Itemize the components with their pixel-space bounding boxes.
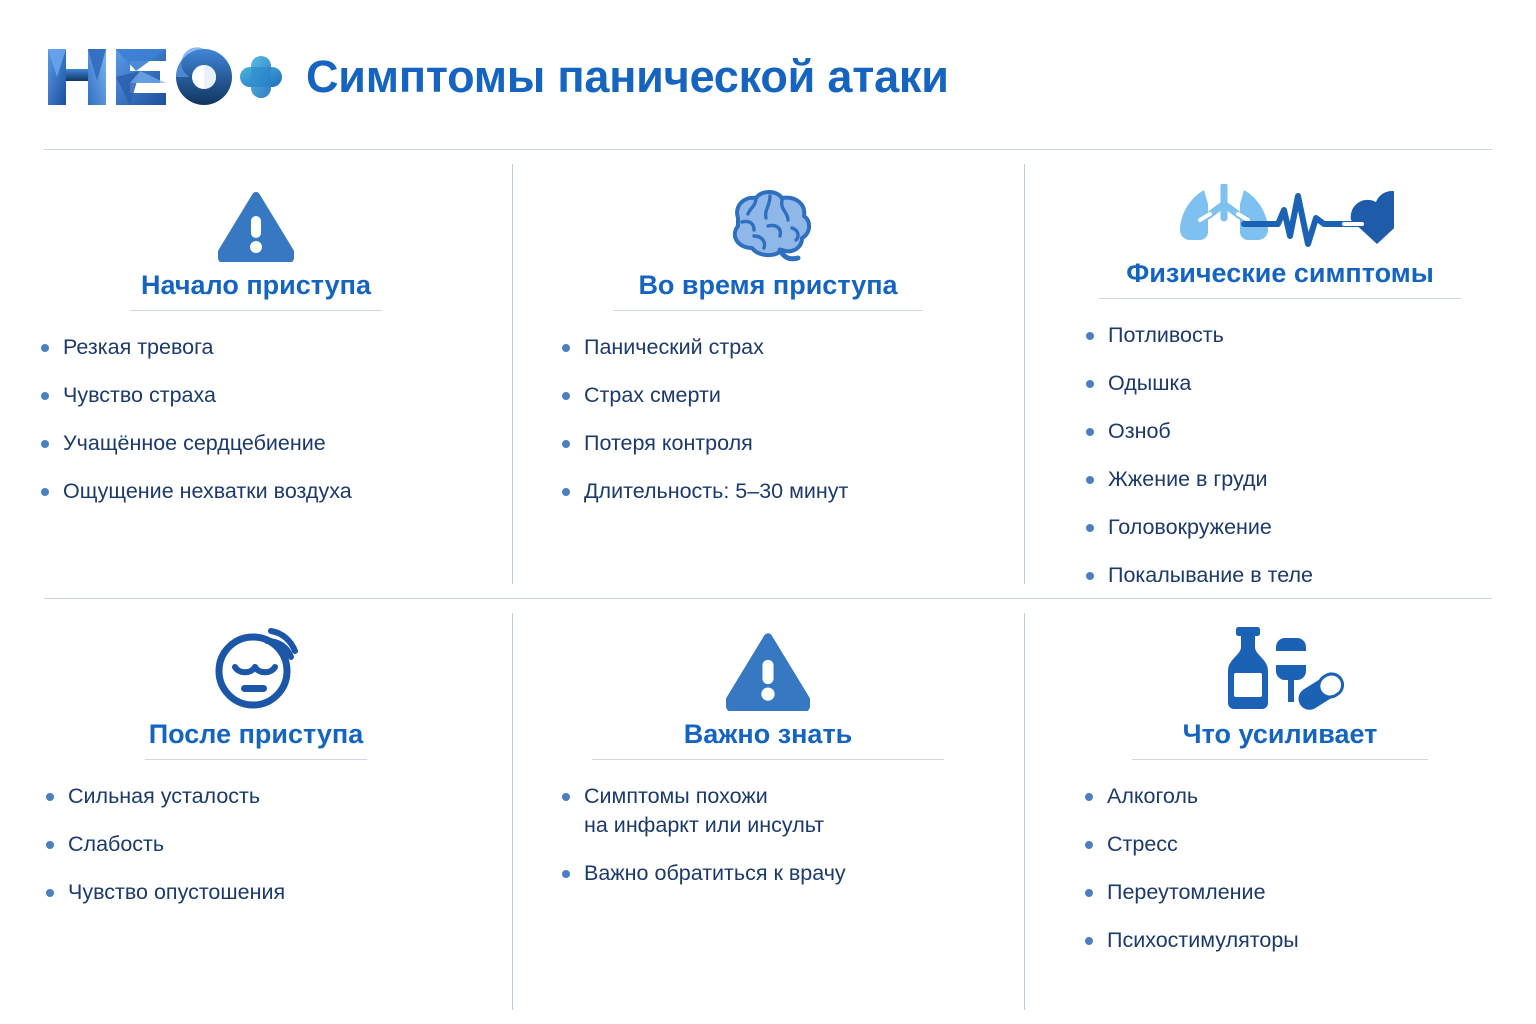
symptom-list: Резкая тревога Чувство страха Учащённое …	[3, 333, 509, 525]
list-item: Важно обратиться к врачу	[558, 859, 1030, 888]
list-item: Алкоголь	[1081, 782, 1536, 811]
list-item: Резкая тревога	[37, 333, 509, 362]
title-underline	[145, 759, 367, 760]
symptom-list: Симптомы похожи на инфаркт или инсульт В…	[506, 782, 1030, 907]
cards-grid: Начало приступа Резкая тревога Чувство с…	[0, 150, 1536, 1024]
list-item: Панический страх	[558, 333, 1030, 362]
cards-row-top: Начало приступа Резкая тревога Чувство с…	[0, 150, 1536, 598]
list-item: Длительность: 5–30 минут	[558, 477, 1030, 506]
card-title: Во время приступа	[638, 270, 897, 301]
title-underline	[1132, 759, 1428, 760]
symptom-list: Потливость Одышка Озноб Жжение в груди Г…	[1006, 321, 1536, 609]
warning-triangle-icon	[218, 184, 294, 262]
title-underline	[613, 310, 923, 311]
symptom-list: Алкоголь Стресс Переутомление Психостиму…	[1007, 782, 1536, 974]
bottle-glass-pill-icon	[1214, 619, 1346, 711]
list-item: Слабость	[42, 830, 514, 859]
page-header: Симптомы панической атаки	[0, 0, 1536, 150]
card-title: Что усиливает	[1183, 719, 1378, 750]
page-title: Симптомы панической атаки	[306, 54, 949, 99]
card-what-aggravates: Что усиливает Алкоголь Стресс Переутомле…	[1024, 599, 1536, 1024]
list-item: Одышка	[1082, 369, 1536, 398]
list-item: Жжение в груди	[1082, 465, 1536, 494]
list-item: Чувство страха	[37, 381, 509, 410]
title-underline	[592, 759, 944, 760]
lungs-heartbeat-heart-icon	[1166, 184, 1394, 250]
list-item: Страх смерти	[558, 381, 1030, 410]
card-during-attack: Во время приступа Панический страх Страх…	[512, 150, 1024, 598]
card-title: После приступа	[149, 719, 364, 750]
symptom-list: Сильная усталость Слабость Чувство опуст…	[0, 782, 514, 926]
list-item: Переутомление	[1081, 878, 1536, 907]
card-title: Физические симптомы	[1126, 258, 1434, 289]
list-item: Психостимуляторы	[1081, 926, 1536, 955]
card-important-to-know: Важно знать Симптомы похожи на инфаркт и…	[512, 599, 1024, 1024]
list-item: Стресс	[1081, 830, 1536, 859]
symptom-list: Панический страх Страх смерти Потеря кон…	[506, 333, 1030, 525]
heo-plus-logo	[44, 41, 284, 113]
list-item: Потливость	[1082, 321, 1536, 350]
list-item: Покалывание в теле	[1082, 561, 1536, 590]
card-title: Начало приступа	[141, 270, 371, 301]
card-attack-onset: Начало приступа Резкая тревога Чувство с…	[0, 150, 512, 598]
list-item: Сильная усталость	[42, 782, 514, 811]
title-underline	[130, 310, 382, 311]
list-item: Чувство опустошения	[42, 878, 514, 907]
list-item: Озноб	[1082, 417, 1536, 446]
list-item: Потеря контроля	[558, 429, 1030, 458]
brain-icon	[718, 184, 818, 262]
warning-triangle-icon	[726, 619, 810, 711]
list-item: Симптомы похожи на инфаркт или инсульт	[558, 782, 1030, 840]
list-item: Учащённое сердцебиение	[37, 429, 509, 458]
list-item: Головокружение	[1082, 513, 1536, 542]
tired-face-icon	[209, 619, 303, 711]
card-after-attack: После приступа Сильная усталость Слабост…	[0, 599, 512, 1024]
card-title: Важно знать	[684, 719, 853, 750]
cards-row-bottom: После приступа Сильная усталость Слабост…	[0, 599, 1536, 1024]
card-physical-symptoms: Физические симптомы Потливость Одышка Оз…	[1024, 150, 1536, 598]
list-item: Ощущение нехватки воздуха	[37, 477, 509, 506]
title-underline	[1099, 298, 1461, 299]
